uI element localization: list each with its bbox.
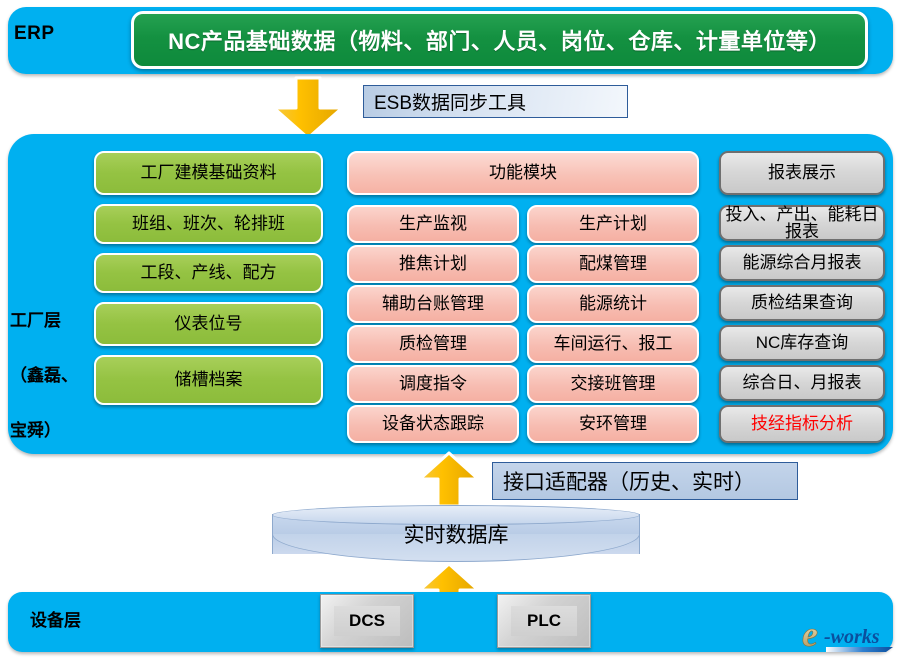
interface-adapter-box[interactable]: 接口适配器（历史、实时） [492,462,798,500]
module-dispatch-order[interactable]: 调度指令 [347,365,519,403]
plant-layer-label-line-1: 工厂层 [10,312,90,330]
module-production-monitoring[interactable]: 生产监视 [347,205,519,243]
report-energy-monthly[interactable]: 能源综合月报表 [719,245,885,281]
interface-adapter-label: 接口适配器（历史、实时） [503,466,755,496]
report-nc-inventory-query[interactable]: NC库存查询 [719,325,885,361]
module-quality-inspection[interactable]: 质检管理 [347,325,519,363]
erp-base-data-box[interactable]: NC产品基础数据（物料、部门、人员、岗位、仓库、计量单位等） [131,11,868,69]
report-technical-economic-index[interactable]: 技经指标分析 [719,405,885,443]
module-coal-blending[interactable]: 配煤管理 [527,245,699,283]
plant-item-factory-modeling[interactable]: 工厂建模基础资料 [94,151,323,195]
plant-item-instrument-tag[interactable]: 仪表位号 [94,302,323,346]
report-quality-result-query[interactable]: 质检结果查询 [719,285,885,321]
arrow-down-icon [272,78,344,140]
device-node-plc[interactable]: PLC [497,594,591,648]
erp-base-data-label: NC产品基础数据（物料、部门、人员、岗位、仓库、计量单位等） [168,24,831,56]
plant-layer-label: 工厂层 （鑫磊、 宝舜） [10,275,90,477]
device-layer-band [8,592,893,652]
svg-text:e: e [802,616,818,654]
plant-item-section-line-recipe[interactable]: 工段、产线、配方 [94,253,323,293]
module-safety-environment[interactable]: 安环管理 [527,405,699,443]
module-coke-push-plan[interactable]: 推焦计划 [347,245,519,283]
module-auxiliary-ledger[interactable]: 辅助台账管理 [347,285,519,323]
plc-label: PLC [527,611,561,631]
plant-layer-label-line-3: 宝舜） [10,422,90,440]
module-production-plan[interactable]: 生产计划 [527,205,699,243]
eworks-logo: e -works [800,616,895,654]
module-shift-handover[interactable]: 交接班管理 [527,365,699,403]
plant-layer-label-line-2: （鑫磊、 [10,367,90,385]
device-layer-label: 设备层 [30,612,81,630]
esb-sync-tool-box[interactable]: ESB数据同步工具 [363,85,628,118]
module-workshop-run-report[interactable]: 车间运行、报工 [527,325,699,363]
realtime-database-label: 实时数据库 [272,505,640,563]
report-comprehensive-daily-monthly[interactable]: 综合日、月报表 [719,365,885,401]
module-equipment-status[interactable]: 设备状态跟踪 [347,405,519,443]
report-input-output-energy-daily[interactable]: 投入、产出、能耗日报表 [719,205,885,241]
svg-text:-works: -works [824,626,880,648]
function-module-header[interactable]: 功能模块 [347,151,699,195]
device-node-dcs[interactable]: DCS [320,594,414,648]
erp-layer-label: ERP [14,24,55,45]
arrow-up-icon-adapter [418,452,480,508]
dcs-label: DCS [349,611,385,631]
diagram-canvas: ERP NC产品基础数据（物料、部门、人员、岗位、仓库、计量单位等） ESB数据… [0,0,901,659]
esb-sync-tool-label: ESB数据同步工具 [374,88,526,115]
module-energy-statistics[interactable]: 能源统计 [527,285,699,323]
plant-item-tank-archive[interactable]: 储槽档案 [94,355,323,405]
report-display-header[interactable]: 报表展示 [719,151,885,195]
realtime-database-cylinder[interactable]: 实时数据库 [272,505,640,563]
plant-item-shift-group[interactable]: 班组、班次、轮排班 [94,204,323,244]
